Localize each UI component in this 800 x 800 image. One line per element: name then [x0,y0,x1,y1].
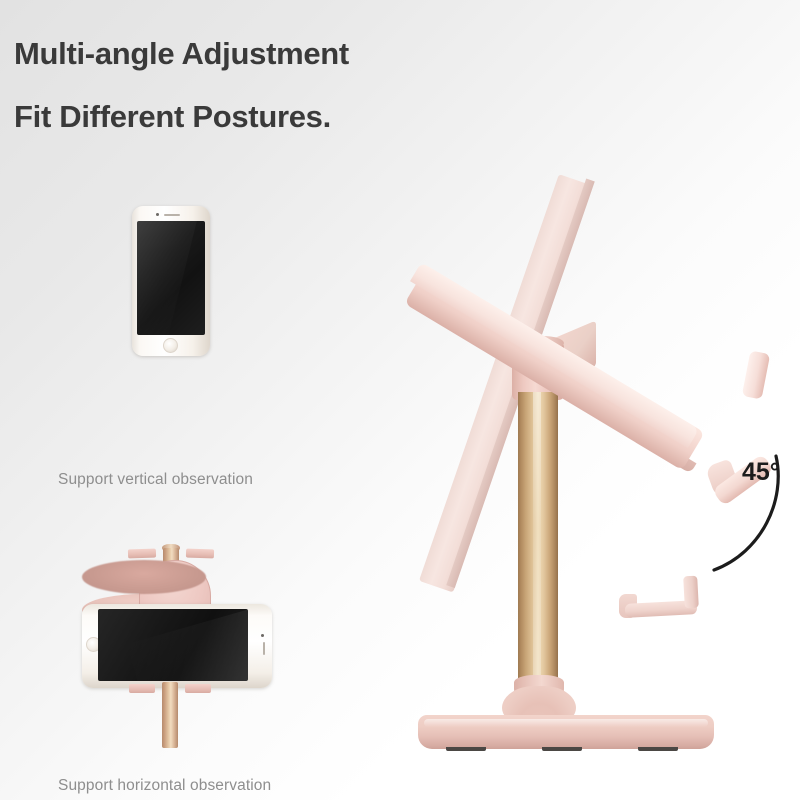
cradle-hook-left [128,549,156,559]
base-underside [82,560,206,594]
cradle-hook-right [186,549,214,559]
phone-portrait [132,206,210,356]
phone-earpiece-icon [164,214,180,216]
phone-home-button-icon [163,338,178,353]
angle-label: 45° [742,458,780,487]
phone-screen [137,221,205,335]
cradle-hook-left [129,684,155,693]
cradle-hook-right [185,684,211,693]
stand-pole [162,682,178,748]
phone-earpiece-icon [263,642,265,655]
screen-glare [127,609,248,681]
base-foot [542,747,582,751]
caption-horizontal-observation: Support horizontal observation [58,777,271,795]
base-slab-highlight [424,719,708,727]
phone-camera-icon [156,213,159,216]
front-plate-face [410,262,699,448]
base-foot [446,747,486,751]
stand-illustration-main: 45° [390,170,790,770]
headline-line-1: Multi-angle Adjustment [14,38,534,69]
base-foot [638,747,678,751]
screen-glare [137,221,202,335]
caption-vertical-observation: Support vertical observation [58,471,253,489]
front-hook-lip [742,351,770,400]
stand-illustration-vertical [100,200,260,465]
stand-illustration-horizontal [82,560,272,775]
headline-line-2: Fit Different Postures. [14,101,534,132]
phone-camera-icon [261,634,264,637]
headline-block: Multi-angle Adjustment Fit Different Pos… [14,38,534,132]
product-image-canvas: Multi-angle Adjustment Fit Different Pos… [0,0,800,800]
phone-landscape [82,604,272,688]
phone-screen [98,609,248,681]
